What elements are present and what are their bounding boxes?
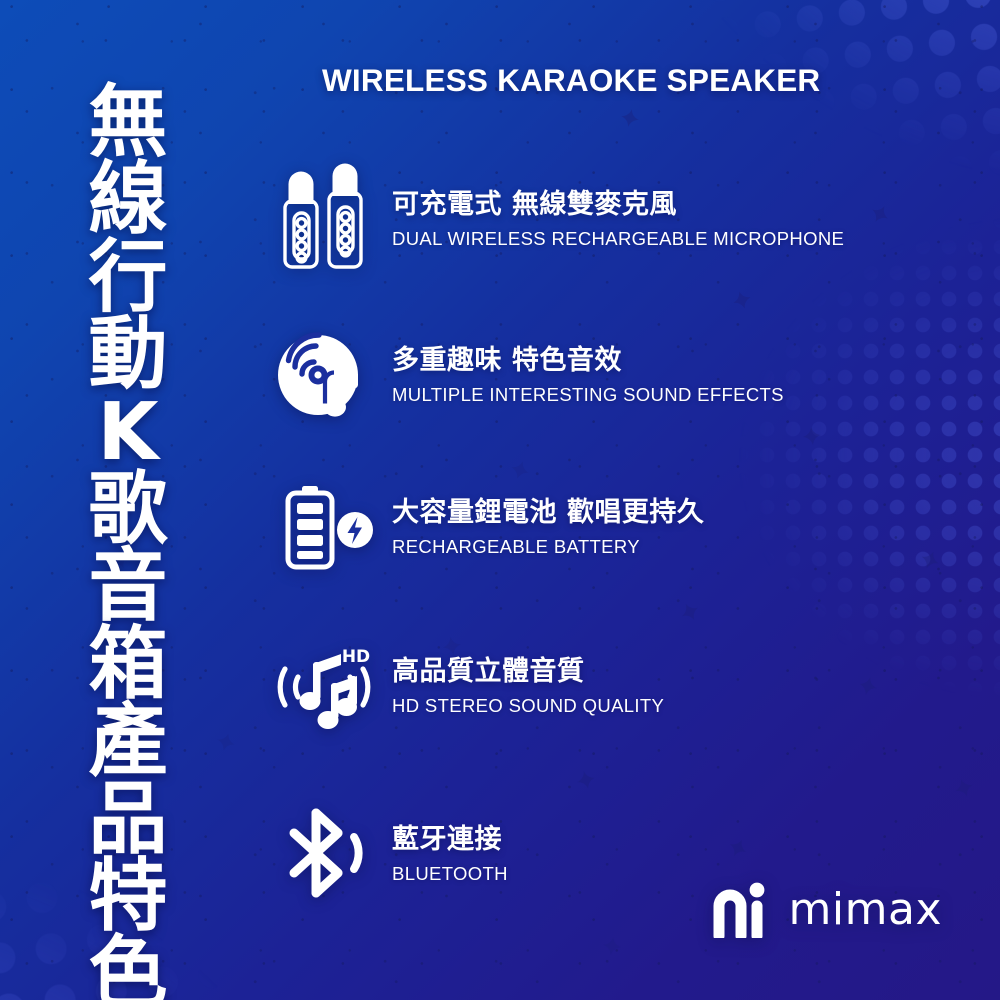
brand-name: mimax — [789, 888, 942, 932]
vertical-char: 音 — [89, 548, 168, 625]
feature-title-cn: 高品質立體音質 — [392, 655, 664, 689]
feature-text: 可充電式 無線雙麥克風 DUAL WIRELESS RECHARGEABLE M… — [386, 188, 844, 250]
vertical-char: 產 — [89, 703, 168, 780]
vertical-char: 無 — [89, 84, 168, 161]
disc-music-note-icon — [262, 316, 386, 434]
feature-title-en: DUAL WIRELESS RECHARGEABLE MICROPHONE — [392, 228, 844, 250]
vertical-char: 行 — [89, 239, 168, 316]
feature-title-cn: 多重趣味 特色音效 — [392, 344, 784, 378]
battery-charging-icon — [262, 468, 386, 586]
feature-title-cn: 大容量鋰電池 歡唱更持久 — [392, 496, 704, 530]
page-title: WIRELESS KARAOKE SPEAKER — [322, 62, 820, 99]
feature-list: 可充電式 無線雙麥克風 DUAL WIRELESS RECHARGEABLE M… — [262, 160, 962, 910]
vertical-char: K — [97, 394, 158, 471]
vertical-char: 特 — [89, 858, 168, 935]
brand-logo: mimax — [713, 882, 942, 938]
feature-title-en: MULTIPLE INTERESTING SOUND EFFECTS — [392, 384, 784, 406]
bluetooth-icon — [262, 795, 386, 913]
vertical-char: 歌 — [89, 471, 168, 548]
vertical-char: 線 — [89, 161, 168, 238]
feature-row: 多重趣味 特色音效 MULTIPLE INTERESTING SOUND EFF… — [262, 320, 962, 430]
vertical-char: 色 — [89, 935, 168, 1000]
feature-row: 可充電式 無線雙麥克風 DUAL WIRELESS RECHARGEABLE M… — [262, 160, 962, 278]
hd-badge-label: HD — [342, 647, 370, 667]
feature-title-cn: 可充電式 無線雙麥克風 — [392, 188, 844, 222]
feature-text: 多重趣味 特色音效 MULTIPLE INTERESTING SOUND EFF… — [386, 344, 784, 406]
vertical-headline: 無 線 行 動 K 歌 音 箱 產 品 特 色 — [72, 84, 184, 954]
feature-text: 大容量鋰電池 歡唱更持久 RECHARGEABLE BATTERY — [386, 496, 704, 558]
feature-text: 高品質立體音質 HD STEREO SOUND QUALITY — [386, 655, 664, 717]
feature-row: 大容量鋰電池 歡唱更持久 RECHARGEABLE BATTERY — [262, 472, 962, 582]
mimax-monogram-icon — [713, 882, 775, 938]
vertical-char: 箱 — [89, 626, 168, 703]
hd-stereo-music-icon: HD — [262, 627, 386, 745]
feature-title-en: RECHARGEABLE BATTERY — [392, 536, 704, 558]
dual-microphone-icon — [262, 160, 386, 278]
poster-canvas: 無 線 行 動 K 歌 音 箱 產 品 特 色 WIRELESS KARAOKE… — [0, 0, 1000, 1000]
feature-row: HD 高品質立體音質 HD STEREO SOUND QUALITY — [262, 630, 962, 742]
feature-text: 藍牙連接 BLUETOOTH — [386, 823, 508, 885]
feature-title-cn: 藍牙連接 — [392, 823, 508, 857]
vertical-char: 動 — [89, 316, 168, 393]
vertical-char: 品 — [89, 781, 168, 858]
feature-title-en: BLUETOOTH — [392, 863, 508, 885]
feature-title-en: HD STEREO SOUND QUALITY — [392, 695, 664, 717]
